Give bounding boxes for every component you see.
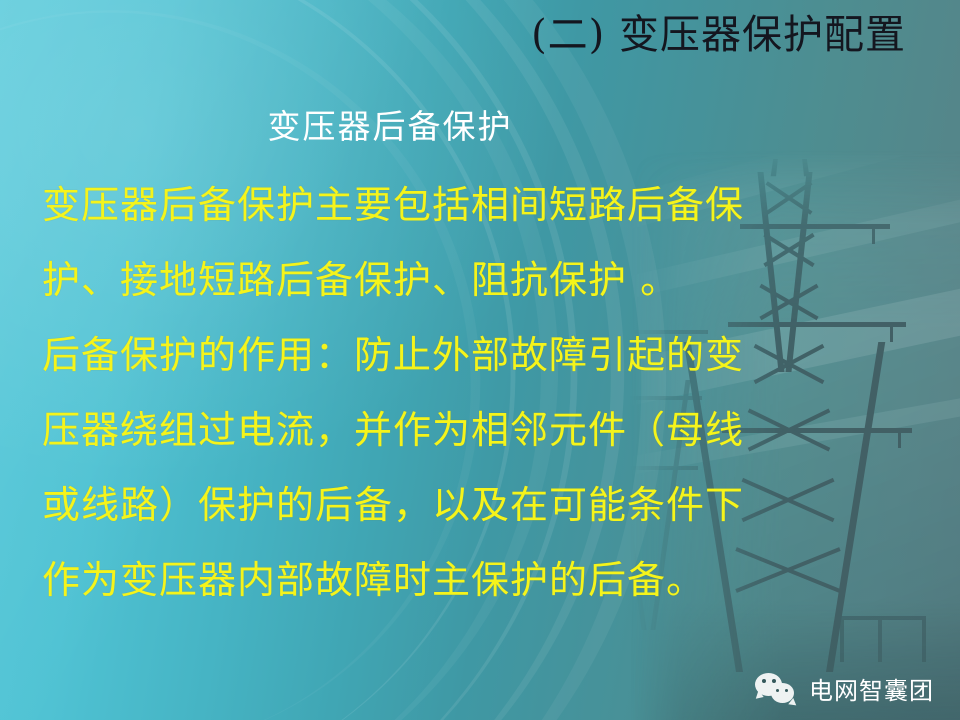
- wechat-icon: [755, 673, 799, 705]
- wechat-bubble-small: [771, 683, 794, 703]
- wechat-account-name: 电网智囊团: [809, 671, 934, 706]
- wechat-eye: [785, 689, 788, 692]
- body-line: 护、接地短路后备保护、阻抗保护 。: [42, 243, 922, 318]
- body-line: 变压器后备保护主要包括相间短路后备保: [42, 168, 922, 243]
- body-line: 作为变压器内部故障时主保护的后备。: [42, 543, 922, 618]
- slide-title: (二) 变压器保护配置: [531, 12, 906, 58]
- wechat-watermark: 电网智囊团: [755, 671, 934, 706]
- wechat-eye: [762, 679, 766, 683]
- body-line: 压器绕组过电流，并作为相邻元件（母线: [42, 393, 922, 468]
- presentation-slide: (二) 变压器保护配置 变压器后备保护 变压器后备保护主要包括相间短路后备保 护…: [0, 0, 960, 720]
- body-line: 或线路）保护的后备，以及在可能条件下: [42, 468, 922, 543]
- wechat-eye: [776, 689, 779, 692]
- slide-body: 变压器后备保护主要包括相间短路后备保 护、接地短路后备保护、阻抗保护 。 后备保…: [42, 168, 922, 618]
- slide-subtitle: 变压器后备保护: [0, 100, 960, 148]
- body-line: 后备保护的作用：防止外部故障引起的变: [42, 318, 922, 393]
- wechat-eye: [772, 679, 776, 683]
